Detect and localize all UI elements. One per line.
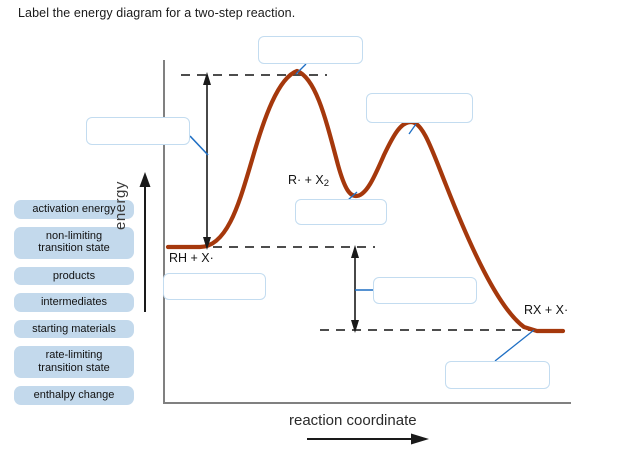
bank-item-enthalpy-change[interactable]: enthalpy change (14, 386, 134, 405)
dropzone-second-transition-state[interactable] (366, 93, 473, 123)
x-axis-label: reaction coordinate (289, 412, 417, 429)
enthalpy-change-arrow (351, 245, 359, 333)
dropzone-intermediate[interactable] (295, 199, 387, 225)
y-axis-label: energy (112, 181, 129, 230)
bank-item-products[interactable]: products (14, 267, 134, 286)
connector-drop-3 (409, 124, 416, 134)
label-intermediate-text: R· + X (288, 173, 324, 187)
dropzone-starting-materials[interactable] (163, 273, 266, 300)
energy-direction-arrow (138, 172, 152, 312)
dropzone-enthalpy-change[interactable] (373, 277, 477, 304)
reaction-direction-arrow (307, 432, 429, 446)
bank-item-starting-materials[interactable]: starting materials (14, 320, 134, 339)
bank-item-intermediates[interactable]: intermediates (14, 293, 134, 312)
label-bank: activation energy non-limiting transitio… (14, 200, 134, 413)
bank-item-non-limiting-transition-state[interactable]: non-limiting transition state (14, 227, 134, 259)
label-intermediate-subscript: 2 (324, 178, 329, 189)
bank-item-rate-limiting-transition-state[interactable]: rate-limiting transition state (14, 346, 134, 378)
label-reactants: RH + X· (169, 251, 214, 265)
y-axis-line (163, 60, 165, 404)
label-intermediate: R· + X2 (288, 173, 329, 189)
x-axis-line (163, 402, 571, 404)
connector-drop-2 (190, 136, 208, 155)
connector-drop-1 (296, 64, 306, 74)
page-title: Label the energy diagram for a two-step … (18, 6, 295, 20)
dropzone-first-transition-state[interactable] (258, 36, 363, 64)
energy-diagram-exercise: Label the energy diagram for a two-step … (0, 0, 637, 462)
dropzone-products[interactable] (445, 361, 550, 389)
dropzone-activation-energy[interactable] (86, 117, 190, 145)
activation-energy-arrow (203, 72, 211, 250)
label-products: RX + X· (524, 303, 568, 317)
connector-drop-7 (495, 330, 534, 361)
